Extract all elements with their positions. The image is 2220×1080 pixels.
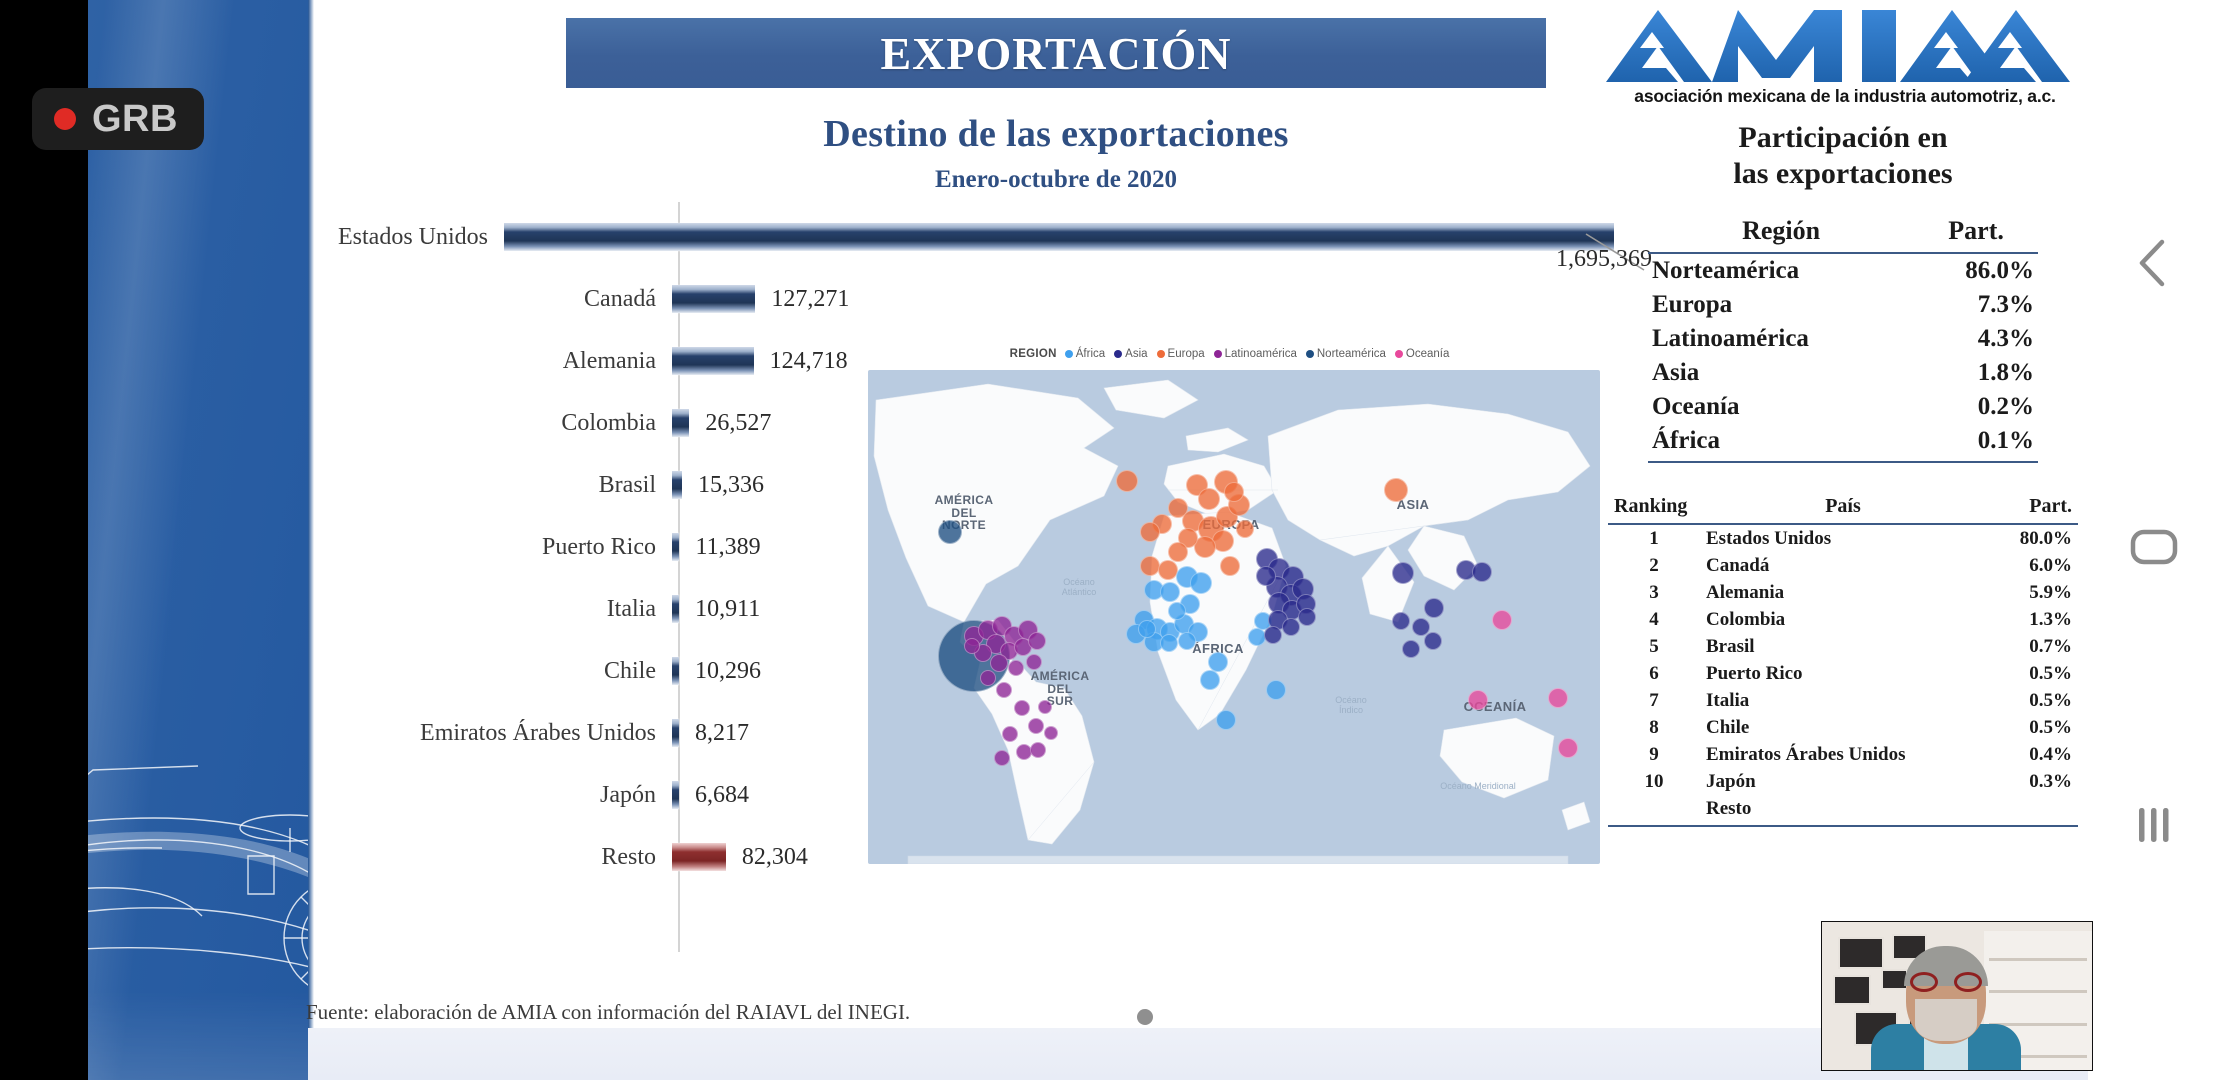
map-legend-title: REGION xyxy=(1010,348,1057,360)
map-legend: REGIONÁfricaAsiaEuropaLatinoaméricaNorte… xyxy=(868,348,1600,360)
region-table-row: Norteamérica86.0% xyxy=(1648,253,2038,288)
ranking-country-cell: Estados Unidos xyxy=(1700,524,1986,552)
map-bubble[interactable] xyxy=(1014,700,1030,716)
region-table-header-row: Región Part. xyxy=(1648,214,2038,253)
chart-bar[interactable] xyxy=(672,719,679,747)
map-bubble[interactable] xyxy=(1140,556,1160,576)
amia-logo: asociación mexicana de la industria auto… xyxy=(1600,6,2088,112)
ranking-part-cell: 0.5% xyxy=(1986,687,2078,714)
chart-bar-wrap xyxy=(672,778,679,812)
legend-color-dot-icon xyxy=(1114,350,1122,358)
chart-category-label: Puerto Rico xyxy=(338,534,672,561)
participation-title: Participación en las exportaciones xyxy=(1608,120,2078,192)
map-bubble[interactable] xyxy=(1044,726,1058,740)
ranking-country-cell: Emiratos Árabes Unidos xyxy=(1700,741,1986,768)
chart-bar-wrap xyxy=(672,530,679,564)
region-table-header-region: Región xyxy=(1648,214,1914,253)
ranking-table-header-row: Ranking País Part. xyxy=(1608,493,2078,524)
android-navigation-bar xyxy=(2088,0,2220,1080)
map-bubble[interactable] xyxy=(1264,626,1282,644)
nav-recents-button[interactable] xyxy=(2088,790,2220,860)
ranking-table-row: 6Puerto Rico0.5% xyxy=(1608,660,2078,687)
ranking-table-row: 8Chile0.5% xyxy=(1608,714,2078,741)
map-canvas[interactable]: AMÉRICADELNORTE AMÉRICADELSUR EUROPA ÁFR… xyxy=(868,370,1600,864)
chart-bar[interactable] xyxy=(672,843,726,871)
ranking-part-cell xyxy=(1986,795,2078,826)
map-bubble[interactable] xyxy=(1160,582,1180,602)
chart-category-label: Emiratos Árabes Unidos xyxy=(338,720,672,747)
ranking-part-cell: 6.0% xyxy=(1986,552,2078,579)
region-participation-table: Región Part. Norteamérica86.0%Europa7.3%… xyxy=(1648,214,2038,463)
chart-value-label: 10,296 xyxy=(695,658,761,685)
chart-value-label: 6,684 xyxy=(695,782,749,809)
chart-value-label: 26,527 xyxy=(705,410,771,437)
ranking-header-ranking: Ranking xyxy=(1608,493,1700,524)
slide-title: EXPORTACIÓN xyxy=(881,27,1232,80)
chart-value-label: 127,271 xyxy=(771,286,849,313)
recording-badge-label: GRB xyxy=(92,98,178,141)
participant-beard xyxy=(1915,999,1977,1041)
region-table-row: Asia1.8% xyxy=(1648,356,2038,390)
map-legend-item[interactable]: Asia xyxy=(1114,348,1147,360)
map-bubble[interactable] xyxy=(1468,690,1488,710)
slide-title-banner: EXPORTACIÓN xyxy=(566,18,1546,88)
slide-footer-strip xyxy=(308,1028,2088,1080)
ranking-table-row: 10Japón0.3% xyxy=(1608,768,2078,795)
map-bubble[interactable] xyxy=(1424,598,1444,618)
map-bubble[interactable] xyxy=(994,750,1010,766)
ranking-country-cell: Chile xyxy=(1700,714,1986,741)
map-bubble[interactable] xyxy=(1384,478,1408,502)
ranking-position-cell xyxy=(1608,795,1700,826)
map-bubble[interactable] xyxy=(1140,522,1160,542)
region-name-cell: Europa xyxy=(1648,288,1914,322)
chart-bar[interactable] xyxy=(672,471,682,499)
video-participant-thumbnail[interactable] xyxy=(1822,922,2092,1070)
region-name-cell: Oceanía xyxy=(1648,390,1914,424)
home-icon xyxy=(2129,527,2179,567)
chart-bar-wrap xyxy=(672,468,682,502)
chart-bar[interactable] xyxy=(672,347,754,375)
ranking-position-cell: 1 xyxy=(1608,524,1700,552)
map-legend-item[interactable]: Europa xyxy=(1157,348,1205,360)
map-bubble[interactable] xyxy=(1424,632,1442,650)
map-bubble[interactable] xyxy=(1216,710,1236,730)
map-bubble[interactable] xyxy=(990,654,1008,672)
map-bubble[interactable] xyxy=(1298,608,1316,626)
ranking-table-row: 7Italia0.5% xyxy=(1608,687,2078,714)
region-name-cell: África xyxy=(1648,424,1914,462)
map-bubble[interactable] xyxy=(1282,618,1300,636)
ranking-part-cell: 1.3% xyxy=(1986,606,2078,633)
region-name-cell: Norteamérica xyxy=(1648,253,1914,288)
chart-bar[interactable] xyxy=(672,409,689,437)
ranking-position-cell: 9 xyxy=(1608,741,1700,768)
map-bubble[interactable] xyxy=(1472,562,1492,582)
map-bubble[interactable] xyxy=(980,670,996,686)
map-bubble[interactable] xyxy=(1220,556,1240,576)
map-legend-label: Latinoamérica xyxy=(1225,348,1297,360)
record-dot-icon xyxy=(54,108,76,130)
chart-bar[interactable] xyxy=(504,223,1614,251)
chart-category-label: Chile xyxy=(338,658,672,685)
map-bubble[interactable] xyxy=(1208,652,1228,672)
map-bubble[interactable] xyxy=(1190,572,1212,594)
legend-color-dot-icon xyxy=(1065,350,1073,358)
ranking-part-cell: 0.5% xyxy=(1986,660,2078,687)
map-bubble[interactable] xyxy=(1256,566,1276,586)
region-name-cell: Asia xyxy=(1648,356,1914,390)
chart-bar-wrap xyxy=(672,592,679,626)
chart-value-label: 8,217 xyxy=(695,720,749,747)
chart-value-label: 82,304 xyxy=(742,844,808,871)
map-bubble[interactable] xyxy=(938,520,962,544)
map-bubble[interactable] xyxy=(1548,688,1568,708)
chart-value-label: 11,389 xyxy=(695,534,760,561)
map-legend-item[interactable]: África xyxy=(1065,348,1105,360)
ranking-position-cell: 7 xyxy=(1608,687,1700,714)
map-bubble[interactable] xyxy=(1168,602,1186,620)
band-edge xyxy=(308,0,314,1080)
chart-category-label: Italia xyxy=(338,596,672,623)
region-table-row: Europa7.3% xyxy=(1648,288,2038,322)
map-bubble[interactable] xyxy=(1236,520,1254,538)
wall-photo-frame xyxy=(1838,937,1884,970)
map-bubble[interactable] xyxy=(1224,482,1244,502)
back-chevron-icon xyxy=(2134,236,2174,290)
map-legend-label: Europa xyxy=(1168,348,1205,360)
chart-subtitle: Enero-octubre de 2020 xyxy=(566,166,1546,194)
chart-bar-wrap xyxy=(504,220,1614,254)
nav-home-button[interactable] xyxy=(2088,512,2220,582)
region-part-cell: 86.0% xyxy=(1914,253,2038,288)
chart-bar-row: Canadá127,271 xyxy=(338,268,1598,330)
chart-bar-wrap xyxy=(672,716,679,750)
map-bubble[interactable] xyxy=(1392,562,1414,584)
ranking-position-cell: 2 xyxy=(1608,552,1700,579)
map-bubble[interactable] xyxy=(1030,742,1046,758)
map-bubble[interactable] xyxy=(1038,700,1052,714)
ranking-position-cell: 4 xyxy=(1608,606,1700,633)
wall-photo-frame xyxy=(1833,975,1871,1005)
chart-bar-wrap xyxy=(672,344,754,378)
chart-value-label: 124,718 xyxy=(770,348,848,375)
ranking-part-cell: 0.7% xyxy=(1986,633,2078,660)
nav-back-button[interactable] xyxy=(2088,228,2220,298)
map-bubble[interactable] xyxy=(1008,660,1024,676)
world-map-bubble-chart[interactable]: REGIONÁfricaAsiaEuropaLatinoaméricaNorte… xyxy=(868,370,1600,864)
map-bubble[interactable] xyxy=(1492,610,1512,630)
ranking-position-cell: 6 xyxy=(1608,660,1700,687)
map-bubble[interactable] xyxy=(1266,680,1286,700)
ranking-table-row: 2Canadá6.0% xyxy=(1608,552,2078,579)
legend-color-dot-icon xyxy=(1306,350,1314,358)
region-part-cell: 7.3% xyxy=(1914,288,2038,322)
map-bubble[interactable] xyxy=(1198,488,1220,510)
region-part-cell: 0.1% xyxy=(1914,424,2038,462)
ranking-header-part: Part. xyxy=(1986,493,2078,524)
ranking-country-cell: Japón xyxy=(1700,768,1986,795)
region-name-cell: Latinoamérica xyxy=(1648,322,1914,356)
chart-value-label: 15,336 xyxy=(698,472,764,499)
map-label-indian-ocean: OcéanoÍndico xyxy=(1306,696,1396,716)
chart-bar-row: Estados Unidos xyxy=(338,206,1598,268)
recents-icon xyxy=(2132,803,2176,847)
chart-category-label: Alemania xyxy=(338,348,672,375)
chart-bar-wrap xyxy=(672,282,755,316)
screen: EXPORTACIÓN xyxy=(0,0,2220,1080)
map-bubble[interactable] xyxy=(1158,560,1178,580)
map-label-atlantic-ocean: OcéanoAtlántico xyxy=(1034,578,1124,598)
legend-color-dot-icon xyxy=(1214,350,1222,358)
map-legend-item[interactable]: Norteamérica xyxy=(1306,348,1386,360)
chart-value-label: 10,911 xyxy=(695,596,760,623)
region-part-cell: 0.2% xyxy=(1914,390,2038,424)
map-bubble[interactable] xyxy=(1558,738,1578,758)
ranking-position-cell: 3 xyxy=(1608,579,1700,606)
amia-logotype-icon xyxy=(1600,6,2088,86)
region-table-row: África0.1% xyxy=(1648,424,2038,462)
ranking-country-cell: Colombia xyxy=(1700,606,1986,633)
map-bubble[interactable] xyxy=(964,638,980,654)
map-bubble[interactable] xyxy=(1028,718,1044,734)
participant-glasses xyxy=(1910,972,1982,992)
ranking-country-cell: Resto xyxy=(1700,795,1986,826)
map-bubble[interactable] xyxy=(1392,612,1410,630)
chart-bar[interactable] xyxy=(672,595,679,623)
map-bubble[interactable] xyxy=(1178,632,1196,650)
participation-panel: Participación en las exportaciones Regió… xyxy=(1608,120,2078,950)
country-ranking-table: Ranking País Part. 1Estados Unidos80.0%2… xyxy=(1608,493,2078,827)
map-bubble[interactable] xyxy=(1116,470,1138,492)
amia-tagline: asociación mexicana de la industria auto… xyxy=(1600,86,2088,107)
chart-bar[interactable] xyxy=(672,533,679,561)
participation-title-line1: Participación en xyxy=(1608,120,2078,156)
chart-bar[interactable] xyxy=(672,285,755,313)
map-bubble[interactable] xyxy=(1138,620,1156,638)
ranking-country-cell: Brasil xyxy=(1700,633,1986,660)
map-bubble[interactable] xyxy=(1026,654,1042,670)
ranking-part-cell: 5.9% xyxy=(1986,579,2078,606)
legend-color-dot-icon xyxy=(1395,350,1403,358)
ranking-table-row: 1Estados Unidos80.0% xyxy=(1608,524,2078,552)
map-legend-label: Norteamérica xyxy=(1317,348,1386,360)
chart-bar-wrap xyxy=(672,406,689,440)
ranking-position-cell: 8 xyxy=(1608,714,1700,741)
map-label-southern-ocean: Océano Meridional xyxy=(1408,782,1548,792)
map-bubble[interactable] xyxy=(1402,640,1420,658)
presentation-slide[interactable]: EXPORTACIÓN xyxy=(88,0,2088,1080)
chart-category-label: Resto xyxy=(338,844,672,871)
chart-bar[interactable] xyxy=(672,781,679,809)
slide-page-indicator-dot[interactable] xyxy=(1137,1009,1153,1025)
ranking-country-cell: Puerto Rico xyxy=(1700,660,1986,687)
ranking-position-cell: 5 xyxy=(1608,633,1700,660)
ranking-position-cell: 10 xyxy=(1608,768,1700,795)
region-part-cell: 1.8% xyxy=(1914,356,2038,390)
map-bubble[interactable] xyxy=(1200,670,1220,690)
region-table-header-part: Part. xyxy=(1914,214,2038,253)
ranking-header-country: País xyxy=(1700,493,1986,524)
ranking-country-cell: Alemania xyxy=(1700,579,1986,606)
participation-title-line2: las exportaciones xyxy=(1608,156,2078,192)
map-legend-item[interactable]: Oceanía xyxy=(1395,348,1449,360)
ranking-table-row: 5Brasil0.7% xyxy=(1608,633,2078,660)
map-bubble[interactable] xyxy=(996,682,1012,698)
chart-bar[interactable] xyxy=(672,657,679,685)
ranking-country-cell: Canadá xyxy=(1700,552,1986,579)
ranking-part-cell: 80.0% xyxy=(1986,524,2078,552)
chart-bar-wrap xyxy=(672,654,679,688)
map-legend-label: Asia xyxy=(1125,348,1147,360)
ranking-table-row: 9Emiratos Árabes Unidos0.4% xyxy=(1608,741,2078,768)
region-table-row: Latinoamérica4.3% xyxy=(1648,322,2038,356)
map-legend-label: África xyxy=(1076,348,1105,360)
chart-category-label: Brasil xyxy=(338,472,672,499)
car-reflection xyxy=(88,990,308,1080)
ranking-table-row: 3Alemania5.9% xyxy=(1608,579,2078,606)
chart-title: Destino de las exportaciones xyxy=(566,112,1546,156)
ranking-country-cell: Italia xyxy=(1700,687,1986,714)
source-note: Fuente: elaboración de AMIA con informac… xyxy=(306,1000,910,1025)
map-legend-item[interactable]: Latinoamérica xyxy=(1214,348,1297,360)
slide-left-band xyxy=(88,0,308,1080)
region-table-row: Oceanía0.2% xyxy=(1648,390,2038,424)
chart-category-label: Estados Unidos xyxy=(338,224,504,251)
chart-category-label: Canadá xyxy=(338,286,672,313)
chart-category-label: Japón xyxy=(338,782,672,809)
ranking-table-row: Resto xyxy=(1608,795,2078,826)
wireframe-car-graphic xyxy=(88,620,308,1050)
map-legend-label: Oceanía xyxy=(1406,348,1449,360)
map-bubble[interactable] xyxy=(1028,632,1046,650)
legend-color-dot-icon xyxy=(1157,350,1165,358)
recording-badge: GRB xyxy=(32,88,204,150)
ranking-part-cell: 0.4% xyxy=(1986,741,2078,768)
region-part-cell: 4.3% xyxy=(1914,322,2038,356)
chart-category-label: Colombia xyxy=(338,410,672,437)
map-bubble[interactable] xyxy=(1168,542,1188,562)
chart-bar-wrap xyxy=(672,840,726,874)
map-bubble[interactable] xyxy=(1160,634,1178,652)
ranking-part-cell: 0.5% xyxy=(1986,714,2078,741)
ranking-table-row: 4Colombia1.3% xyxy=(1608,606,2078,633)
map-bubble[interactable] xyxy=(1002,726,1018,742)
ranking-part-cell: 0.3% xyxy=(1986,768,2078,795)
